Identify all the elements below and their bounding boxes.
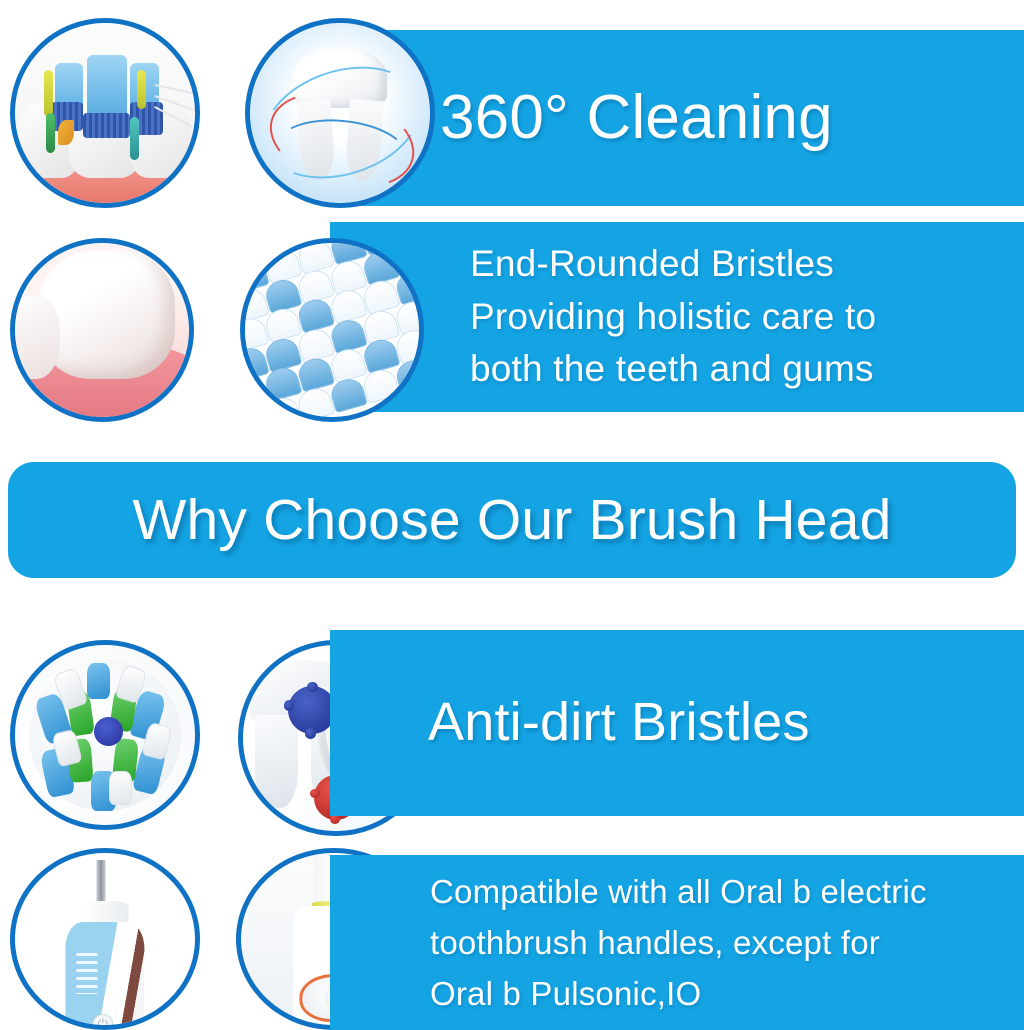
banner-why-choose-our-brush-head: Why Choose Our Brush Head [8, 462, 1016, 578]
banner-compatibility: Compatible with all Oral b electric toot… [330, 855, 1024, 1030]
tooth-orbit-photo [245, 18, 435, 208]
banner-end-rounded-bristles: End-Rounded Bristles Providing holistic … [330, 222, 1024, 412]
power-button-icon: ⏻ [92, 1014, 113, 1025]
colorful-brush-head-photo [10, 640, 200, 830]
heading-why-choose: Why Choose Our Brush Head [133, 489, 892, 552]
rounded-bristle-tips-photo [240, 238, 424, 422]
blue-toothbrush-handle-photo: ⏻ [10, 848, 200, 1030]
infographic-canvas: 360° Cleaning [0, 0, 1024, 1030]
heading-anti-dirt-bristles: Anti-dirt Bristles [330, 693, 810, 752]
bristles-between-teeth-photo [10, 18, 200, 208]
molar-and-gums-photo [10, 238, 194, 422]
banner-anti-dirt-bristles: Anti-dirt Bristles [330, 630, 1024, 816]
heading-compatibility: Compatible with all Oral b electric toot… [330, 866, 927, 1019]
